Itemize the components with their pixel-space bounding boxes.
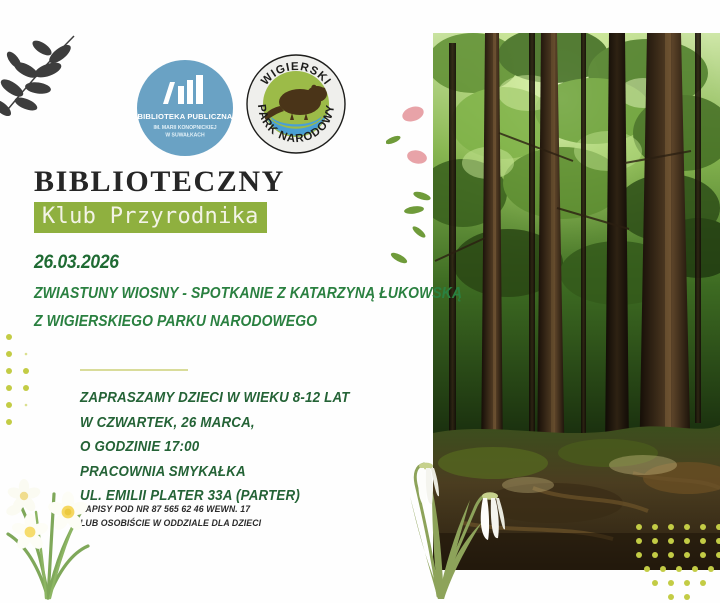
detail-line: PRACOWNIA SMYKAŁKA bbox=[80, 460, 350, 485]
detail-line: W CZWARTEK, 26 MARCA, bbox=[80, 411, 350, 436]
library-logo-line2: IM. MARII KONOPNICKIEJ bbox=[153, 125, 216, 131]
event-details: ZAPRASZAMY DZIECI W WIEKU 8-12 LAT W CZW… bbox=[80, 386, 373, 509]
footer-line: LUB OSOBIŚCIE W ODDZIALE DLA DZIECI bbox=[80, 516, 261, 530]
olive-branch-icon bbox=[0, 30, 80, 122]
poster-canvas: BIBLIOTEKA PUBLICZNA IM. MARII KONOPNICK… bbox=[0, 0, 720, 603]
event-headline-line-2: Z WIGIERSKIEGO PARKU NARODOWEGO bbox=[34, 313, 317, 331]
detail-line: O GODZINIE 17:00 bbox=[80, 435, 350, 460]
wigierski-park-narodowy-logo: WIGIERSKI PARK NARODOWY bbox=[246, 54, 346, 154]
page-title: BIBLIOTECZNY bbox=[34, 167, 285, 197]
biblioteka-publiczna-logo: BIBLIOTEKA PUBLICZNA IM. MARII KONOPNICK… bbox=[137, 60, 233, 156]
library-logo-line3: W SUWAŁKACH bbox=[165, 133, 205, 139]
detail-line: ZAPRASZAMY DZIECI W WIEKU 8-12 LAT bbox=[80, 386, 350, 411]
footer-line: ZAPISY POD NR 87 565 62 46 WEWN. 17 bbox=[80, 502, 261, 516]
event-headline-line-1: ZWIASTUNY WIOSNY - SPOTKANIE Z KATARZYNĄ… bbox=[34, 285, 462, 303]
library-logo-line1: BIBLIOTEKA PUBLICZNA bbox=[137, 112, 232, 121]
dot-grid-decoration-left bbox=[4, 332, 38, 430]
page-subtitle-highlight: Klub Przyrodnika bbox=[34, 202, 267, 233]
registration-info: ZAPISY POD NR 87 565 62 46 WEWN. 17 LUB … bbox=[80, 502, 273, 530]
event-date: 26.03.2026 bbox=[34, 252, 119, 274]
divider bbox=[80, 369, 188, 371]
forest-photograph bbox=[433, 33, 720, 570]
